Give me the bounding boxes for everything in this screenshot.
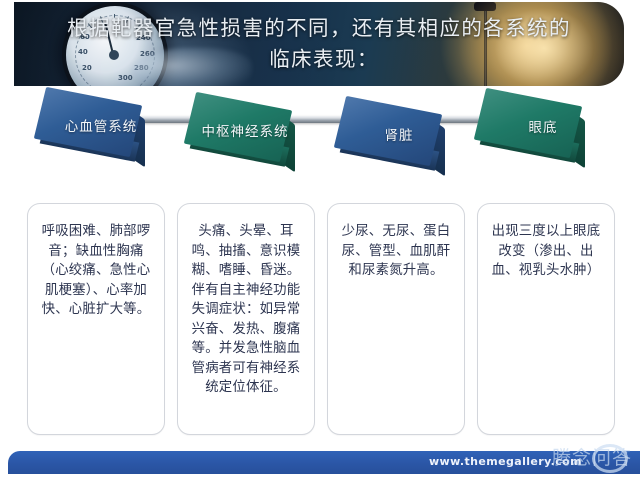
page-title-line-2: 临床表现： bbox=[259, 44, 379, 75]
symptom-text-1: 呼吸困难、肺部啰音；缺血性胸痛（心绞痛、急性心肌梗塞）、心率加快、心脏扩大等。 bbox=[39, 222, 153, 320]
category-box-fundus[interactable]: 眼底 bbox=[480, 96, 598, 182]
category-label-3: 肾脏 bbox=[344, 124, 454, 144]
category-label-1: 心血管系统 bbox=[46, 115, 156, 135]
category-box-cns[interactable]: 中枢神经系统 bbox=[190, 100, 308, 186]
footer-url: www.themegallery.com bbox=[429, 455, 582, 468]
symptom-panel-fundus: 出现三度以上眼底改变（渗出、出血、视乳头水肿） bbox=[477, 203, 615, 435]
page-title: 根据靶器官急性损害的不同，还有其相应的各系统的 临床表现： bbox=[14, 2, 624, 86]
symptom-panel-cardiovascular: 呼吸困难、肺部啰音；缺血性胸痛（心绞痛、急性心肌梗塞）、心率加快、心脏扩大等。 bbox=[27, 203, 165, 435]
title-banner: 20 40 60 240 260 280 300 根据靶器官急性损害的不同，还有… bbox=[14, 2, 624, 86]
symptom-panel-cns: 头痛、头晕、耳鸣、抽搐、意识模糊、嗜睡、昏迷。伴有自主神经功能失调症状：如异常兴… bbox=[177, 203, 315, 435]
category-box-kidney[interactable]: 肾脏 bbox=[340, 104, 458, 190]
category-label-4: 眼底 bbox=[488, 116, 598, 136]
symptom-text-4: 出现三度以上眼底改变（渗出、出血、视乳头水肿） bbox=[489, 222, 603, 281]
category-box-cardiovascular[interactable]: 心血管系统 bbox=[40, 95, 158, 181]
slide-canvas: 20 40 60 240 260 280 300 根据靶器官急性损害的不同，还有… bbox=[0, 0, 640, 480]
symptom-text-3: 少尿、无尿、蛋白尿、管型、血肌酐和尿素氮升高。 bbox=[339, 222, 453, 281]
symptom-panel-kidney: 少尿、无尿、蛋白尿、管型、血肌酐和尿素氮升高。 bbox=[327, 203, 465, 435]
symptom-panel-row: 呼吸困难、肺部啰音；缺血性胸痛（心绞痛、急性心肌梗塞）、心率加快、心脏扩大等。 … bbox=[27, 203, 617, 435]
page-title-line-1: 根据靶器官急性损害的不同，还有其相应的各系统的 bbox=[67, 13, 571, 44]
symptom-text-2: 头痛、头晕、耳鸣、抽搐、意识模糊、嗜睡、昏迷。伴有自主神经功能失调症状：如异常兴… bbox=[189, 222, 303, 398]
category-label-2: 中枢神经系统 bbox=[190, 120, 300, 140]
